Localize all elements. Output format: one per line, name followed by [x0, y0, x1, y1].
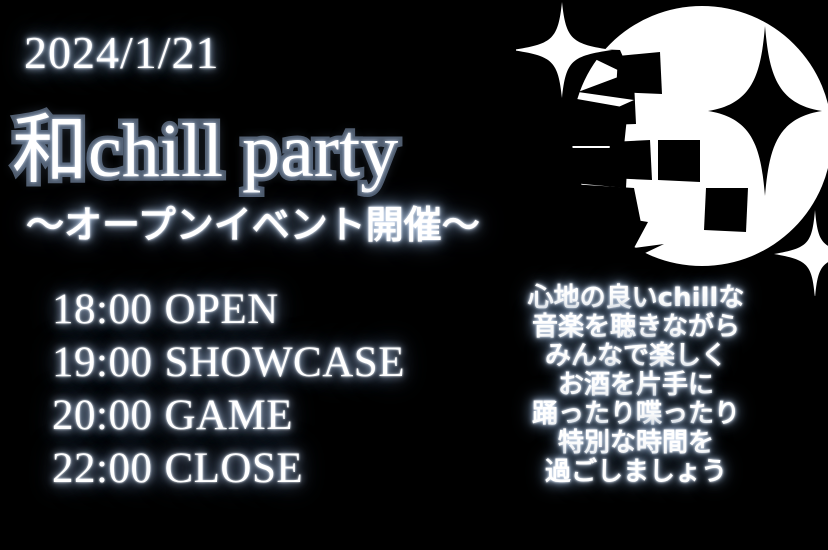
ball-tile-1 [616, 52, 662, 94]
description-line: 特別な時間を [505, 429, 767, 458]
description-line: 踊ったり喋ったり [505, 400, 767, 429]
schedule-time: 18:00 [52, 286, 152, 333]
ball-notch-upper [572, 48, 636, 126]
schedule-list: 18:00OPEN 19:00SHOWCASE 20:00GAME 22:00C… [52, 283, 405, 495]
schedule-time: 19:00 [52, 339, 152, 386]
schedule-time: 22:00 [52, 445, 152, 492]
schedule-time: 20:00 [52, 392, 152, 439]
ball-tile-2 [608, 140, 652, 180]
schedule-row: 22:00CLOSE [52, 442, 405, 495]
sparkle-on-ball-icon [708, 26, 822, 196]
description-line: 音楽を聴きながら [505, 313, 767, 342]
ball-notch-left-2 [560, 148, 628, 188]
schedule-row: 19:00SHOWCASE [52, 336, 405, 389]
disco-ball-artwork [516, 0, 828, 296]
disco-ball-sphere [572, 6, 828, 266]
sparkle-bottom-right-icon [774, 210, 828, 296]
ball-notch-lower [586, 212, 664, 264]
description-line: 過ごしましょう [505, 458, 767, 487]
disco-ball-group [556, 6, 828, 266]
schedule-event: SHOWCASE [164, 339, 405, 386]
ball-tile-4 [704, 188, 748, 232]
description-line: 心地の良いchillな [505, 284, 767, 313]
ball-notch-left-1 [556, 96, 628, 146]
schedule-event: GAME [164, 392, 293, 439]
ball-notch-left-3 [570, 184, 642, 228]
description-line: お酒を片手に [505, 371, 767, 400]
schedule-row: 18:00OPEN [52, 283, 405, 336]
page-subtitle: 〜オープンイベント開催〜 [26, 206, 480, 244]
schedule-event: OPEN [164, 286, 278, 333]
poster-canvas: 2024/1/21 和chill party 〜オープンイベント開催〜 18:0… [0, 0, 828, 550]
page-title: 和chill party [12, 113, 398, 189]
description-line: みんなで楽しく [505, 342, 767, 371]
sparkle-top-left-icon [516, 2, 612, 98]
ball-tile-3 [658, 140, 700, 182]
schedule-row: 20:00GAME [52, 389, 405, 442]
description-block: 心地の良いchillな 音楽を聴きながら みんなで楽しく お酒を片手に 踊ったり… [505, 284, 767, 487]
event-date: 2024/1/21 [24, 30, 220, 76]
schedule-event: CLOSE [164, 445, 303, 492]
